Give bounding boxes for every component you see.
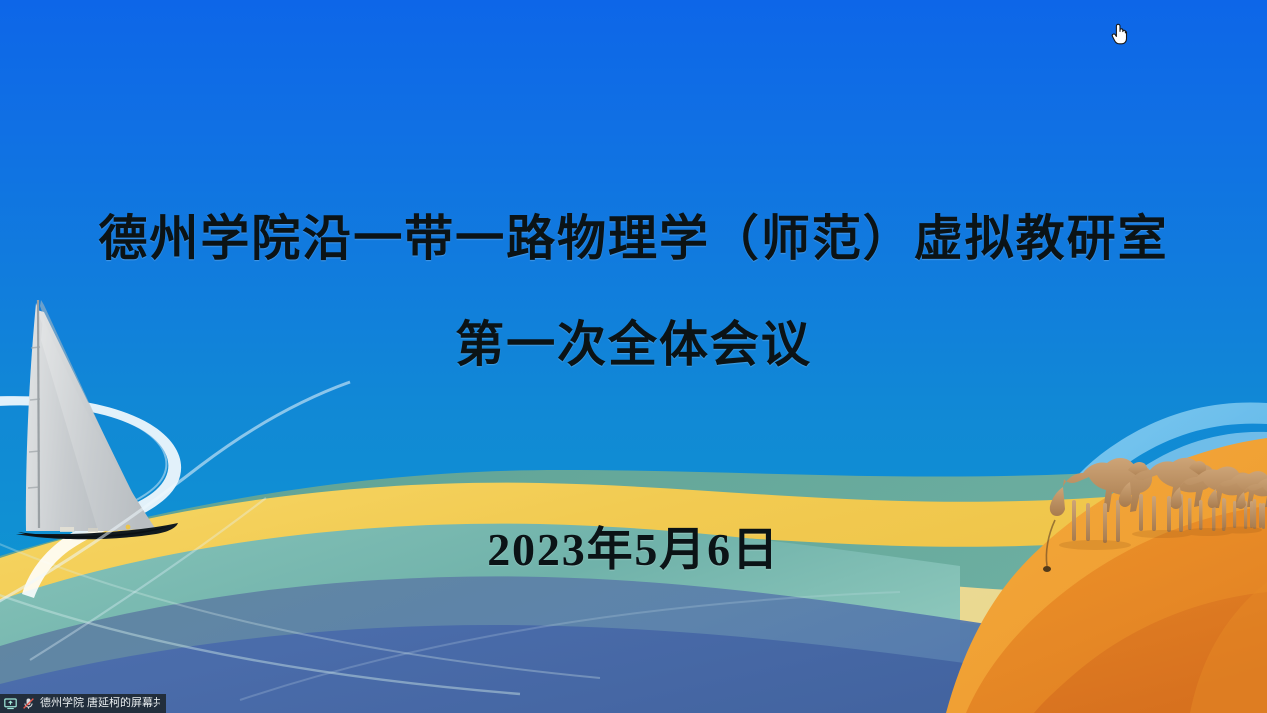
presentation-screen: 德州学院沿一带一路物理学（师范）虚拟教研室 第一次全体会议 2023年5月6日 … xyxy=(0,0,1267,713)
slide-title-line-1: 德州学院沿一带一路物理学（师范）虚拟教研室 xyxy=(0,208,1267,270)
slide-canvas[interactable]: 德州学院沿一带一路物理学（师范）虚拟教研室 第一次全体会议 2023年5月6日 xyxy=(0,0,1267,713)
microphone-muted-icon[interactable] xyxy=(22,697,35,710)
slide-title-line-2: 第一次全体会议 xyxy=(0,314,1267,376)
screen-share-taskbar[interactable]: 德州学院 唐延柯的屏幕共享 xyxy=(0,694,166,713)
slide-date: 2023年5月6日 xyxy=(0,521,1267,579)
taskbar-share-label: 德州学院 唐延柯的屏幕共享 xyxy=(40,697,160,710)
screen-share-icon[interactable] xyxy=(4,697,17,710)
